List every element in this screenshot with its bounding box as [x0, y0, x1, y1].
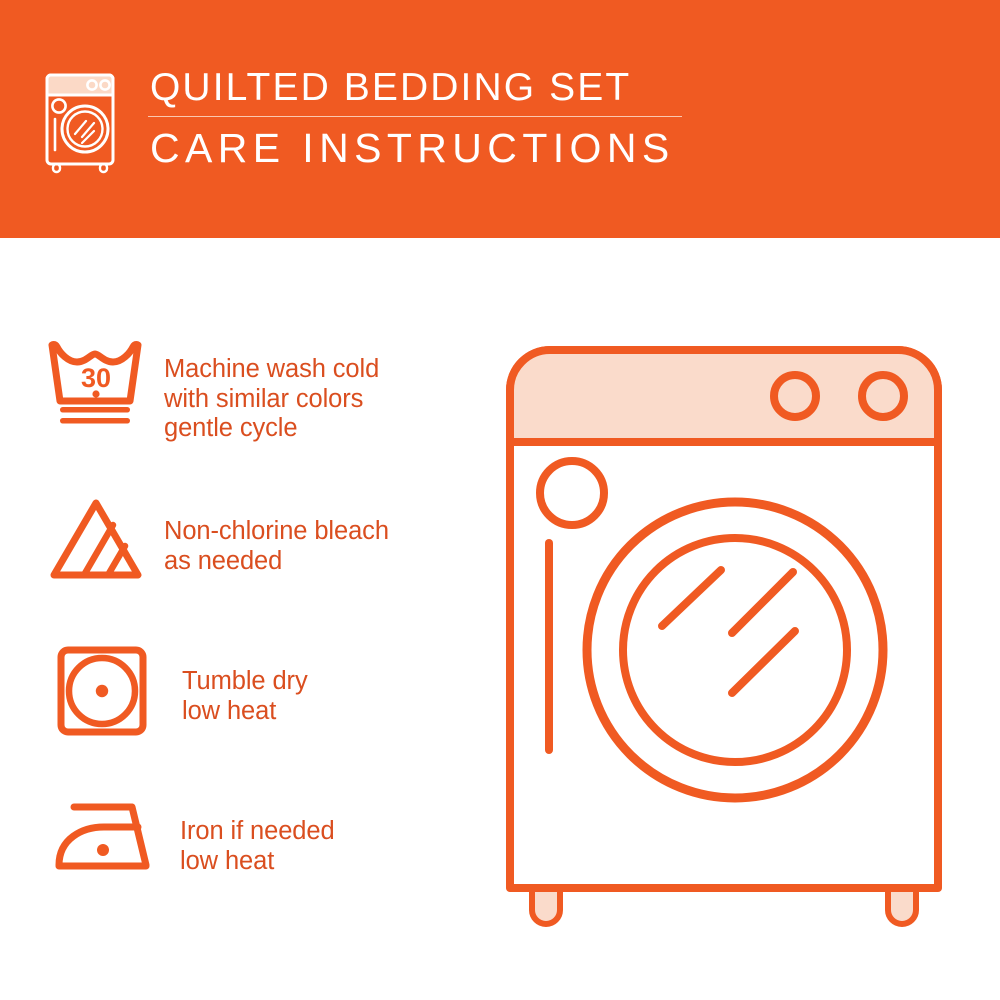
- care-text-line: with similar colors: [164, 385, 379, 415]
- care-text-line: Tumble dry: [182, 667, 308, 697]
- care-instruction-row: Iron if needed low heat: [46, 785, 486, 935]
- detergent-dial: [540, 461, 604, 525]
- care-instruction-row: Non-chlorine bleach as needed: [46, 485, 486, 635]
- page-title: QUILTED BEDDING SET: [148, 66, 682, 110]
- iron-low-heat-icon: [46, 785, 172, 875]
- machine-door-inner: [623, 538, 847, 762]
- page-subtitle: CARE INSTRUCTIONS: [148, 124, 682, 172]
- washing-machine-icon: [44, 70, 126, 174]
- machine-leg-left: [532, 888, 560, 924]
- care-text-line: Machine wash cold: [164, 355, 379, 385]
- non-chlorine-bleach-triangle-icon: [46, 485, 164, 581]
- care-instruction-list: 30 Machine wash cold with similar colors…: [46, 335, 486, 935]
- care-text-line: as needed: [164, 547, 389, 577]
- machine-leg-right: [888, 888, 916, 924]
- care-instruction-text: Tumble dry low heat: [174, 635, 308, 726]
- washing-machine-illustration: [490, 330, 980, 940]
- control-knob-right: [862, 375, 904, 417]
- care-instruction-row: 30 Machine wash cold with similar colors…: [46, 335, 486, 485]
- care-instruction-row: Tumble dry low heat: [46, 635, 486, 785]
- header-content: QUILTED BEDDING SET CARE INSTRUCTIONS: [44, 66, 682, 174]
- header-text-block: QUILTED BEDDING SET CARE INSTRUCTIONS: [148, 66, 682, 172]
- title-divider: [148, 116, 682, 117]
- care-instruction-text: Non-chlorine bleach as needed: [164, 485, 389, 576]
- care-text-line: low heat: [182, 697, 308, 727]
- control-knob-left: [774, 375, 816, 417]
- care-text-line: Iron if needed: [180, 817, 335, 847]
- care-instruction-text: Machine wash cold with similar colors ge…: [164, 335, 379, 444]
- header-banner: QUILTED BEDDING SET CARE INSTRUCTIONS: [0, 0, 1000, 238]
- care-text-line: Non-chlorine bleach: [164, 517, 389, 547]
- care-instruction-text: Iron if needed low heat: [172, 785, 335, 876]
- machine-wash-30-gentle-icon: 30: [46, 335, 164, 431]
- care-text-line: low heat: [180, 847, 335, 877]
- wash-temperature-label: 30: [81, 363, 111, 393]
- care-text-line: gentle cycle: [164, 414, 379, 444]
- tumble-dry-low-heat-icon: [46, 635, 174, 737]
